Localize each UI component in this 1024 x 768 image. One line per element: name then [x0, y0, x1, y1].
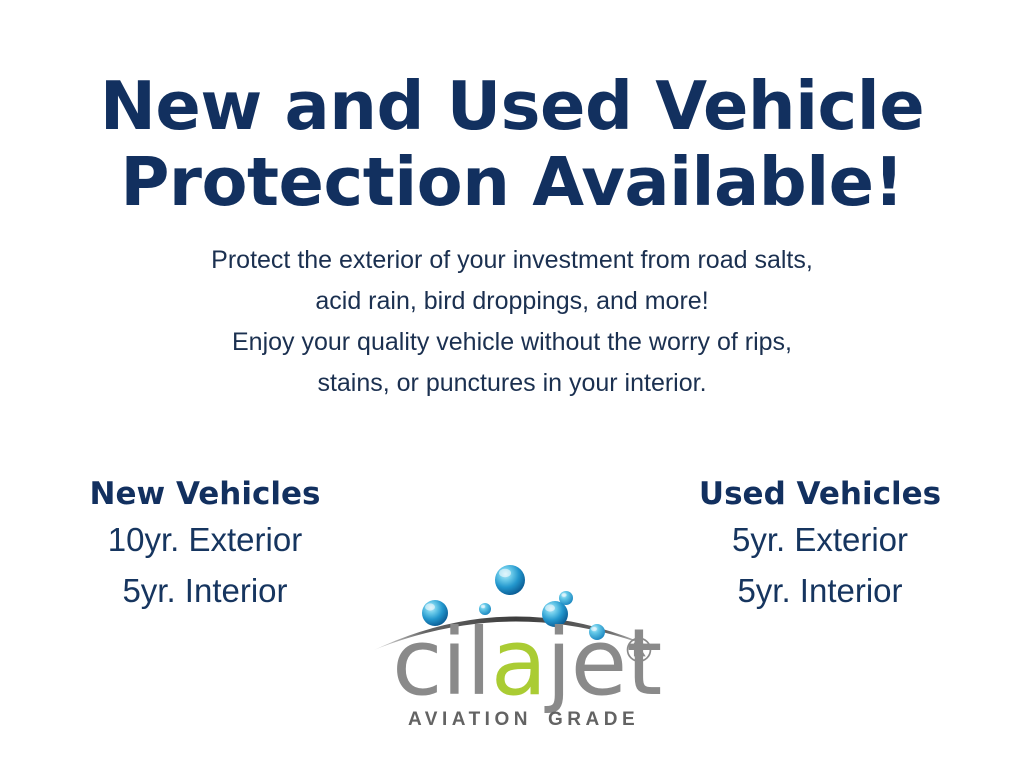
subtitle-line-3: Enjoy your quality vehicle without the w…	[0, 322, 1024, 363]
subtitle-line-2: acid rain, bird droppings, and more!	[0, 281, 1024, 322]
page-title: New and Used Vehicle Protection Availabl…	[0, 68, 1024, 220]
droplet-highlight-icon	[499, 569, 511, 577]
offer-column-title: New Vehicles	[40, 474, 370, 514]
droplet-highlight-icon	[561, 593, 566, 597]
cilajet-logo: cilajet ® AVIATION GRADE	[370, 550, 662, 732]
headline-line-2: Protection Available!	[0, 144, 1024, 220]
logo-wordmark: cilajet	[392, 609, 661, 716]
slide-canvas: New and Used Vehicle Protection Availabl…	[0, 0, 1024, 768]
headline-line-1: New and Used Vehicle	[0, 68, 1024, 144]
subtitle-paragraph: Protect the exterior of your investment …	[0, 240, 1024, 404]
subtitle-line-1: Protect the exterior of your investment …	[0, 240, 1024, 281]
offer-item-exterior: 5yr. Exterior	[655, 514, 985, 565]
subtitle-line-4: stains, or punctures in your interior.	[0, 363, 1024, 404]
droplet-icon	[495, 565, 525, 595]
registered-trademark-icon: ®	[622, 631, 656, 671]
offer-item-interior: 5yr. Interior	[655, 565, 985, 616]
logo-tagline-left: AVIATION	[408, 709, 532, 730]
logo-tagline-right: GRADE	[548, 709, 639, 730]
droplet-highlight-icon	[481, 605, 485, 608]
logo-wordmark-accent: a	[491, 609, 546, 716]
cilajet-logo-graphic: cilajet ® AVIATION GRADE	[370, 550, 662, 732]
offer-column-used-vehicles: Used Vehicles 5yr. Exterior 5yr. Interio…	[655, 474, 985, 616]
offer-item-exterior: 10yr. Exterior	[40, 514, 370, 565]
offer-column-new-vehicles: New Vehicles 10yr. Exterior 5yr. Interio…	[40, 474, 370, 616]
offer-column-title: Used Vehicles	[655, 474, 985, 514]
logo-wordmark-part1: cil	[392, 609, 491, 716]
offer-item-interior: 5yr. Interior	[40, 565, 370, 616]
